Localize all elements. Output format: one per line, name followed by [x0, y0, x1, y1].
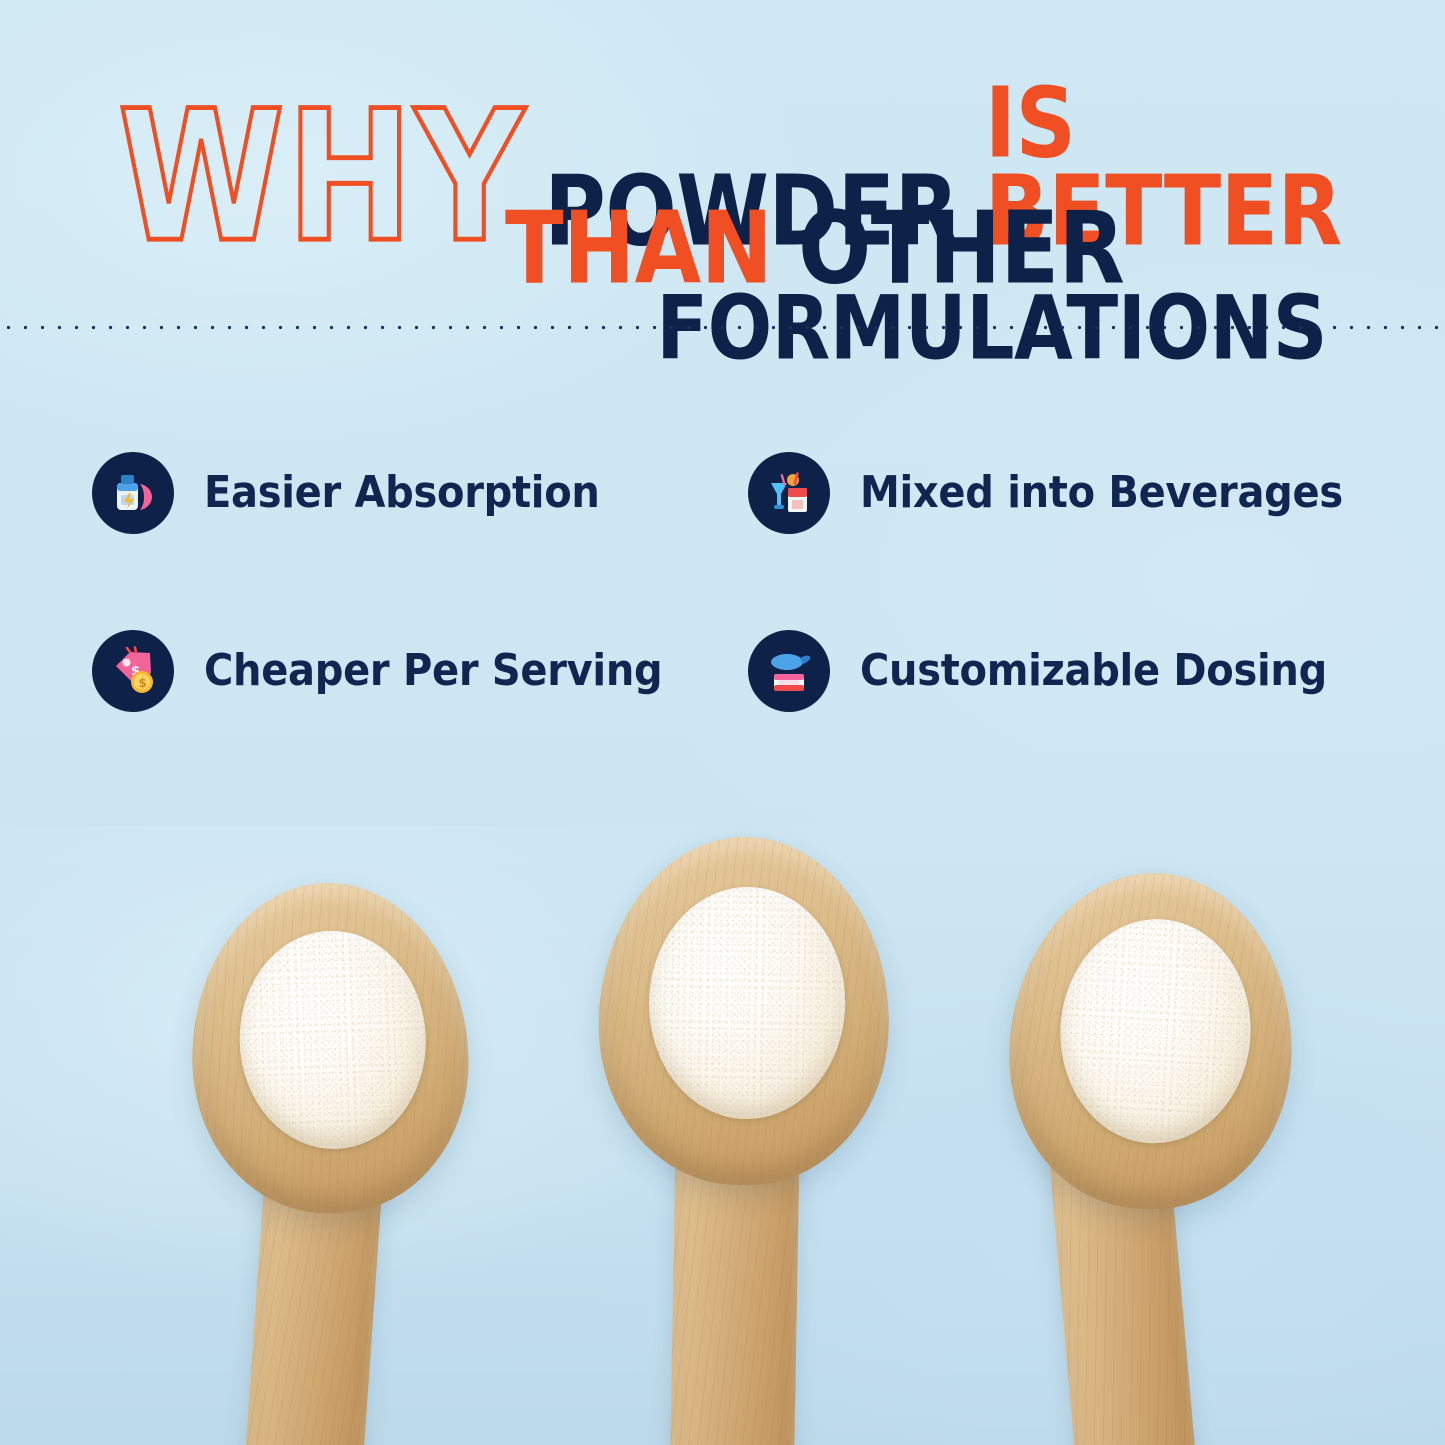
spoon-bowl — [186, 878, 473, 1217]
benefit-label: Easier Absorption — [204, 468, 600, 518]
powder-mound — [1055, 914, 1256, 1148]
beverage-drinks-icon — [748, 452, 830, 534]
benefits-grid: Easier Absorption Mixed into Beverages — [0, 430, 1445, 770]
benefit-item-easier-absorption: Easier Absorption — [92, 452, 600, 534]
benefit-label: Cheaper Per Serving — [204, 646, 662, 696]
headline-word-why: WHY — [118, 102, 526, 255]
supplement-bottle-icon — [92, 452, 174, 534]
benefit-item-mixed-into-beverages: Mixed into Beverages — [748, 452, 1343, 534]
price-tag-coin-icon: $ $ — [92, 630, 174, 712]
benefit-item-cheaper-per-serving: $ $ Cheaper Per Serving — [92, 630, 662, 712]
benefit-item-customizable-dosing: Customizable Dosing — [748, 630, 1327, 712]
spoon-bowl — [1001, 866, 1300, 1216]
infographic-canvas: WHY POWDER IS BETTER THAN OTHER FORMULAT… — [0, 0, 1445, 1445]
svg-text:$: $ — [139, 676, 147, 690]
spoon-bowl — [596, 834, 892, 1187]
dotted-divider — [0, 325, 1445, 330]
benefit-label: Mixed into Beverages — [860, 468, 1343, 518]
benefit-label: Customizable Dosing — [860, 646, 1327, 696]
product-photo — [0, 825, 1445, 1445]
powder-mound — [647, 885, 847, 1120]
powder-mound — [236, 928, 429, 1152]
scoop-container-icon — [748, 630, 830, 712]
header-line-3: FORMULATIONS — [656, 300, 1327, 368]
header-block: WHY POWDER IS BETTER THAN OTHER FORMULAT… — [0, 52, 1445, 322]
